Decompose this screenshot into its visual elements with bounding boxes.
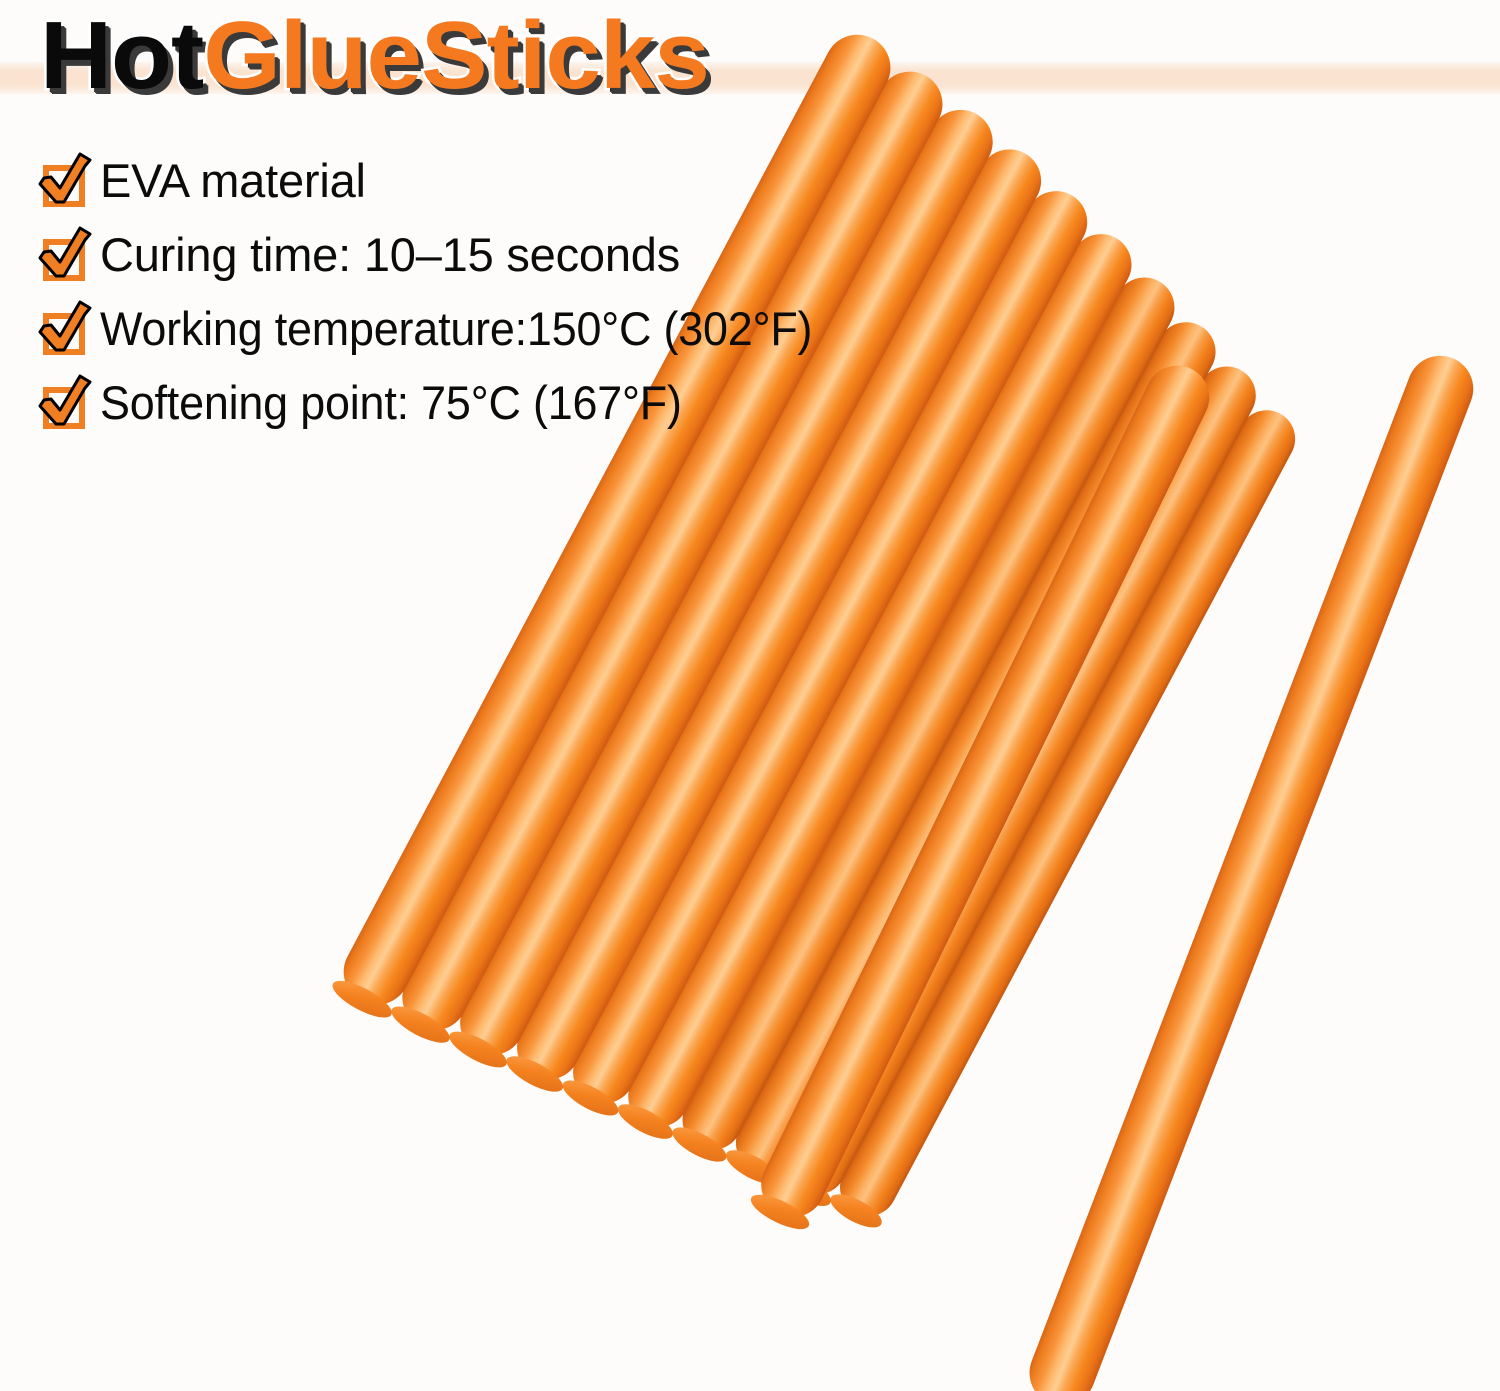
title-word-hot: Hot [40,4,203,108]
feature-item-eva-material: EVA material [38,144,968,218]
feature-item-label: Softening point: 75°C (167°F) [100,377,682,429]
feature-item-softening-point: Softening point: 75°C (167°F) [38,366,968,440]
infographic-page: Hot Glue Sticks EVA material Curing time… [0,0,1500,1391]
checkbox-checkmark-icon [38,374,94,432]
checkbox-checkmark-icon [38,226,94,284]
title-word-glue: Glue [203,4,421,108]
checkbox-checkmark-icon [38,152,94,210]
feature-item-working-temperature: Working temperature:150°C (302°F) [38,292,968,366]
feature-item-label: EVA material [100,155,366,207]
feature-list: EVA material Curing time: 10–15 seconds … [38,144,968,440]
title-word-sticks: Sticks [421,4,709,108]
page-title: Hot Glue Sticks [40,4,709,108]
checkbox-checkmark-icon [38,300,94,358]
feature-item-curing-time: Curing time: 10–15 seconds [38,218,968,292]
feature-item-label: Working temperature:150°C (302°F) [100,303,812,355]
feature-item-label: Curing time: 10–15 seconds [100,229,680,281]
